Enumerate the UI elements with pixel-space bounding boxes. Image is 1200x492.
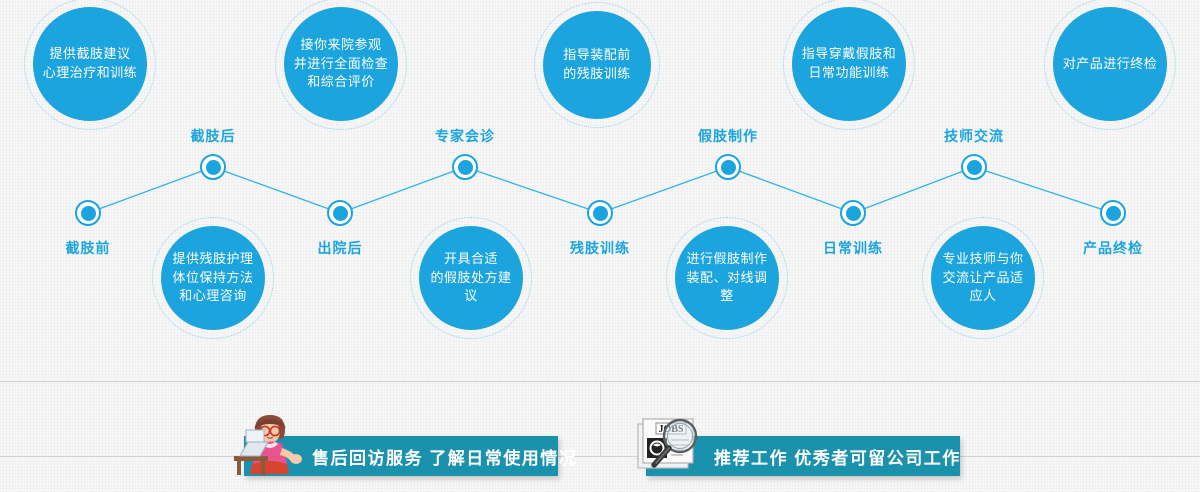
bubble-top[interactable]: 指导穿戴假肢和日常功能训练 <box>792 7 906 121</box>
bubble-top[interactable]: 提供截肢建议心理治疗和训练 <box>33 7 147 121</box>
bubble-text-line: 开具合适 <box>425 250 517 269</box>
bubble-text: 提供截肢建议心理治疗和训练 <box>37 45 144 83</box>
bubble-text-line: 指导装配前 <box>563 46 631 65</box>
bubble-bottom[interactable]: 专业技师与你交流让产品适应人 <box>931 226 1035 330</box>
bubble-top[interactable]: 对产品进行终检 <box>1053 7 1167 121</box>
timeline-node-label: 截肢前 <box>66 238 111 258</box>
section-divider-vertical <box>600 381 601 456</box>
timeline-node-label: 专家会诊 <box>435 126 495 146</box>
bubble-bottom[interactable]: 提供残肢护理体位保持方法和心理咨询 <box>161 226 265 330</box>
timeline-node[interactable] <box>452 154 478 180</box>
service-banner-text: 售后回访服务 了解日常使用情况 <box>312 444 577 469</box>
timeline-node[interactable] <box>715 154 741 180</box>
bubble-text-line: 提供残肢护理 <box>172 250 253 269</box>
bubble-text-line: 接你来院参观 <box>294 36 389 55</box>
bubble-text: 开具合适的假肢处方建议 <box>419 250 523 307</box>
timeline-node-label: 残肢训练 <box>570 238 630 258</box>
bubble-text-line: 装配、对线调整 <box>681 269 773 307</box>
bubble-text-line: 提供截肢建议 <box>43 45 138 64</box>
bubble-text-line: 和心理咨询 <box>172 287 253 306</box>
bubble-text: 指导穿戴假肢和日常功能训练 <box>796 45 903 83</box>
bubble-text: 对产品进行终检 <box>1057 55 1164 74</box>
bubble-text: 指导装配前的残肢训练 <box>557 46 637 84</box>
timeline-node[interactable] <box>200 154 226 180</box>
bubble-text-line: 的残肢训练 <box>563 65 631 84</box>
bubble-text-line: 进行假肢制作 <box>681 250 773 269</box>
bubble-text-line: 体位保持方法 <box>172 269 253 288</box>
timeline-node[interactable] <box>1100 200 1126 226</box>
timeline-node-label: 假肢制作 <box>698 126 758 146</box>
timeline-node[interactable] <box>961 154 987 180</box>
timeline-node[interactable] <box>840 200 866 226</box>
bubble-text: 提供残肢护理体位保持方法和心理咨询 <box>166 250 259 307</box>
infographic-canvas: 提供截肢建议心理治疗和训练接你来院参观并进行全面检查和综合评价指导装配前的残肢训… <box>0 0 1200 492</box>
bubble-bottom[interactable]: 开具合适的假肢处方建议 <box>419 226 523 330</box>
service-banner[interactable]: 售后回访服务 了解日常使用情况 <box>244 436 558 476</box>
bubble-text-line: 对产品进行终检 <box>1063 55 1158 74</box>
bubble-top[interactable]: 指导装配前的残肢训练 <box>543 11 651 119</box>
bubble-text: 接你来院参观并进行全面检查和综合评价 <box>288 36 395 93</box>
bubble-text-line: 并进行全面检查 <box>294 55 389 74</box>
timeline-node-label: 技师交流 <box>944 126 1004 146</box>
timeline-node-label: 截肢后 <box>191 126 236 146</box>
bubble-text-line: 交流让产品适应人 <box>937 269 1029 307</box>
bubble-text-line: 指导穿戴假肢和 <box>802 45 897 64</box>
service-banner[interactable]: 推荐工作 优秀者可留公司工作 <box>646 436 960 476</box>
service-banner-text: 推荐工作 优秀者可留公司工作 <box>714 444 961 469</box>
timeline-node[interactable] <box>587 200 613 226</box>
bubble-text-line: 专业技师与你 <box>937 250 1029 269</box>
bubble-top[interactable]: 接你来院参观并进行全面检查和综合评价 <box>284 7 398 121</box>
bubble-text: 专业技师与你交流让产品适应人 <box>931 250 1035 307</box>
bubble-text-line: 和综合评价 <box>294 73 389 92</box>
timeline-node-label: 日常训练 <box>823 238 883 258</box>
timeline-node-label: 出院后 <box>318 238 363 258</box>
timeline-node[interactable] <box>327 200 353 226</box>
svg-text:JOBS: JOBS <box>658 424 683 435</box>
timeline-node-label: 产品终检 <box>1083 238 1143 258</box>
timeline-node[interactable] <box>75 200 101 226</box>
bubble-text-line: 心理治疗和训练 <box>43 64 138 83</box>
bubble-bottom[interactable]: 进行假肢制作装配、对线调整 <box>675 226 779 330</box>
bubble-text-line: 日常功能训练 <box>802 64 897 83</box>
bubble-text-line: 的假肢处方建议 <box>425 269 517 307</box>
bubble-text: 进行假肢制作装配、对线调整 <box>675 250 779 307</box>
